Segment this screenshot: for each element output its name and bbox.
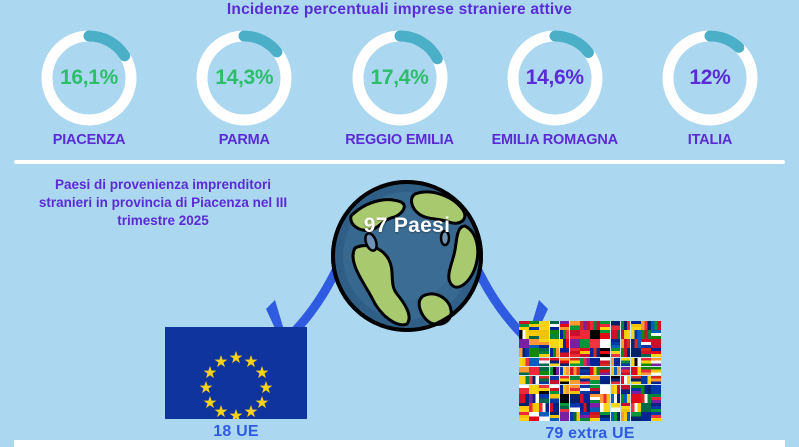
- eu-flag-icon: [165, 327, 307, 419]
- donut-gauge-piacenza: 16,1%: [37, 26, 141, 130]
- donut-gauge-reggio-emilia: 17,4%: [348, 26, 452, 130]
- donut-label-piacenza: PIACENZA: [53, 132, 126, 148]
- eu-flag-svg: [165, 327, 307, 419]
- caption-line-3: trimestre 2025: [8, 212, 318, 230]
- caption-line-1: Paesi di provenienza imprenditori: [8, 176, 318, 194]
- donut-item-piacenza: 16,1% PIACENZA: [14, 26, 164, 152]
- bottom-band: [14, 440, 785, 447]
- donut-value-parma: 14,3%: [192, 26, 296, 130]
- donut-label-reggio-emilia: REGGIO EMILIA: [345, 132, 454, 148]
- world-flags-mosaic-icon: [519, 321, 661, 421]
- page-title: Incidenze percentuali imprese straniere …: [0, 1, 799, 19]
- donut-gauge-italia: 12%: [658, 26, 762, 130]
- provenance-section: Paesi di provenienza imprenditori strani…: [0, 168, 799, 426]
- donut-item-italia: 12% ITALIA: [635, 26, 785, 152]
- donut-item-parma: 14,3% PARMA: [169, 26, 319, 152]
- caption-line-2: stranieri in provincia di Piacenza nel I…: [8, 194, 318, 212]
- eu-group: 18 UE: [165, 327, 307, 441]
- eu-count-label: 18 UE: [165, 423, 307, 441]
- donut-label-italia: ITALIA: [688, 132, 732, 148]
- donut-item-reggio-emilia: 17,4% REGGIO EMILIA: [325, 26, 475, 152]
- donut-label-parma: PARMA: [219, 132, 270, 148]
- donut-label-emilia-romagna: EMILIA ROMAGNA: [492, 132, 618, 148]
- globe-icon: [327, 176, 487, 336]
- donut-gauge-emilia-romagna: 14,6%: [503, 26, 607, 130]
- donut-value-emilia-romagna: 14,6%: [503, 26, 607, 130]
- globe-count-label: 97 Paesi: [327, 214, 487, 238]
- section-divider: [14, 160, 785, 164]
- donut-gauge-parma: 14,3%: [192, 26, 296, 130]
- provenance-caption: Paesi di provenienza imprenditori strani…: [8, 176, 318, 231]
- donut-value-reggio-emilia: 17,4%: [348, 26, 452, 130]
- infographic-canvas: Incidenze percentuali imprese straniere …: [0, 0, 799, 447]
- donut-value-italia: 12%: [658, 26, 762, 130]
- donut-item-emilia-romagna: 14,6% EMILIA ROMAGNA: [480, 26, 630, 152]
- globe-illustration: 97 Paesi: [327, 176, 487, 336]
- extra-eu-group: 79 extra UE: [519, 321, 661, 443]
- donut-value-piacenza: 16,1%: [37, 26, 141, 130]
- donut-chart-row: 16,1% PIACENZA 14,3% PARMA 17,4%: [0, 26, 799, 152]
